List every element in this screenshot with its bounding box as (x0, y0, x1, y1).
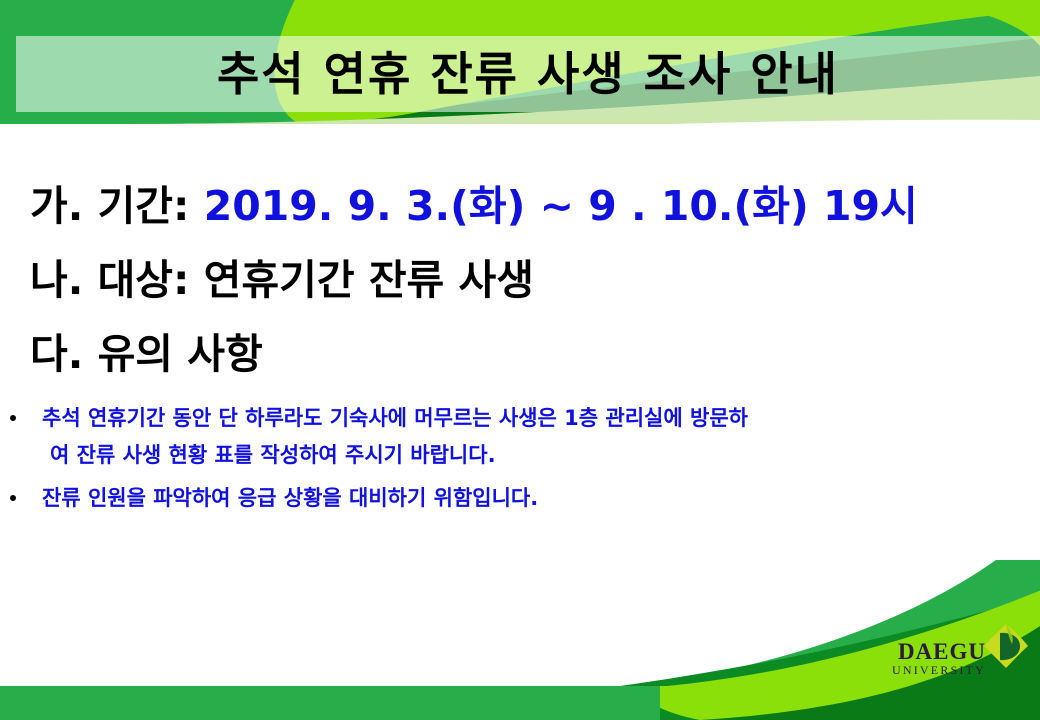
logo-subtitle: UNIVERSITY (892, 664, 986, 676)
info-line-notes: 다. 유의 사항 (0, 334, 1040, 375)
bullet-continuation: 여 잔류 사생 현황 표를 작성하여 주시기 바랍니다. (42, 445, 1040, 466)
daegu-diamond-d-mark-icon (982, 622, 1030, 670)
info-line-period-value: 2019. 9. 3.(화) ~ 9 . 10.(화) 19시 (204, 182, 918, 230)
list-item: 추석 연휴기간 동안 단 하루라도 기숙사에 머무르는 사생은 1층 관리실에 … (0, 408, 1040, 466)
page-title: 추석 연휴 잔류 사생 조사 안내 (201, 51, 839, 97)
bullet-dot-icon (10, 415, 16, 421)
notes-bullet-list: 추석 연휴기간 동안 단 하루라도 기숙사에 머무르는 사생은 1층 관리실에 … (0, 408, 1040, 509)
body-content: 가. 기간: 2019. 9. 3.(화) ~ 9 . 10.(화) 19시 나… (0, 186, 1040, 517)
info-line-notes-label: 다. 유의 사항 (30, 330, 263, 378)
title-block: 추석 연휴 잔류 사생 조사 안내 (0, 36, 1040, 112)
info-line-target-label: 나. 대상: 연휴기간 잔류 사생 (30, 256, 534, 304)
info-line-target: 나. 대상: 연휴기간 잔류 사생 (0, 260, 1040, 301)
bullet-text: 잔류 인원을 파악하여 응급 상황을 대비하기 위함입니다. (42, 488, 1040, 509)
header-white-curve (0, 120, 1040, 175)
daegu-university-logo: DAEGU UNIVERSITY (900, 618, 1032, 692)
footer-white-base (0, 560, 1040, 720)
slide-canvas: 추석 연휴 잔류 사생 조사 안내 가. 기간: 2019. 9. 3.(화) … (0, 0, 1040, 720)
logo-name: DAEGU (892, 640, 986, 663)
info-line-period: 가. 기간: 2019. 9. 3.(화) ~ 9 . 10.(화) 19시 (0, 186, 1040, 227)
footer-mid-green-swoosh (0, 524, 1040, 720)
info-line-period-label: 가. 기간: (30, 182, 204, 230)
list-item: 잔류 인원을 파악하여 응급 상황을 대비하기 위함입니다. (0, 488, 1040, 509)
footer-left-strip (0, 686, 660, 720)
footer-art-group (0, 524, 1040, 720)
bullet-text: 추석 연휴기간 동안 단 하루라도 기숙사에 머무르는 사생은 1층 관리실에 … (42, 408, 1040, 429)
logo-wordmark: DAEGU UNIVERSITY (892, 640, 986, 676)
bullet-dot-icon (10, 495, 16, 501)
